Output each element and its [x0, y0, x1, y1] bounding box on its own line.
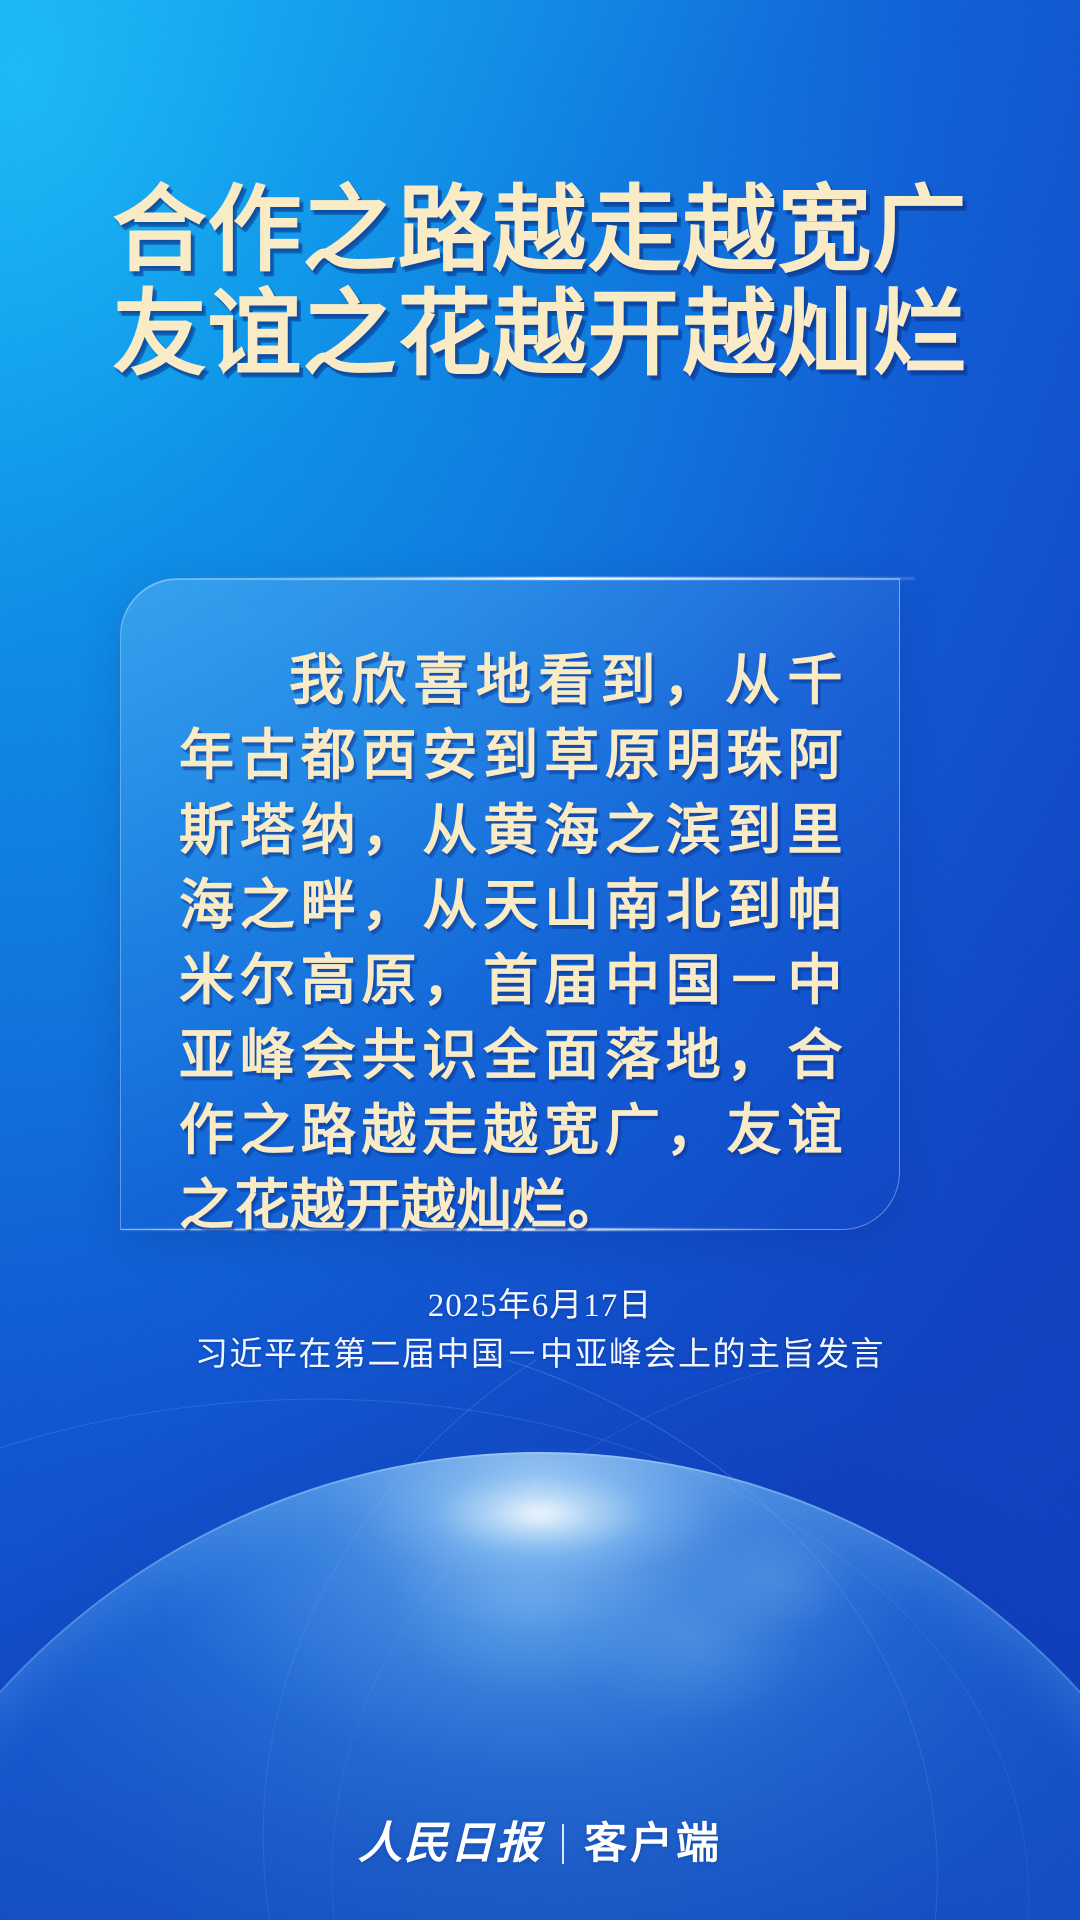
- quote-card: 我欣喜地看到，从千年古都西安到草原明珠阿斯塔纳，从黄海之滨到里海之畔，从天山南北…: [120, 578, 900, 1230]
- peoples-daily-wordmark: 人民日报: [358, 1820, 542, 1868]
- attribution: 2025年6月17日 习近平在第二届中国－中亚峰会上的主旨发言: [0, 1282, 1080, 1380]
- poster-root: 合作之路越走越宽广 友谊之花越开越灿烂 我欣喜地看到，从千年古都西安到草原明珠阿…: [0, 0, 1080, 1920]
- card-top-highlight: [168, 577, 915, 580]
- attribution-source: 习近平在第二届中国－中亚峰会上的主旨发言: [0, 1330, 1080, 1380]
- quote-text: 我欣喜地看到，从千年古都西安到草原明珠阿斯塔纳，从黄海之滨到里海之畔，从天山南北…: [179, 643, 843, 1243]
- footer-logo: 人民日报 客户端: [0, 1820, 1080, 1868]
- app-name-label: 客户端: [584, 1820, 722, 1868]
- title-line-1: 合作之路越走越宽广: [0, 178, 1080, 282]
- page-title: 合作之路越走越宽广 友谊之花越开越灿烂: [0, 178, 1080, 386]
- title-line-2: 友谊之花越开越灿烂: [0, 282, 1080, 386]
- logo-divider: [562, 1824, 564, 1864]
- attribution-date: 2025年6月17日: [0, 1282, 1080, 1330]
